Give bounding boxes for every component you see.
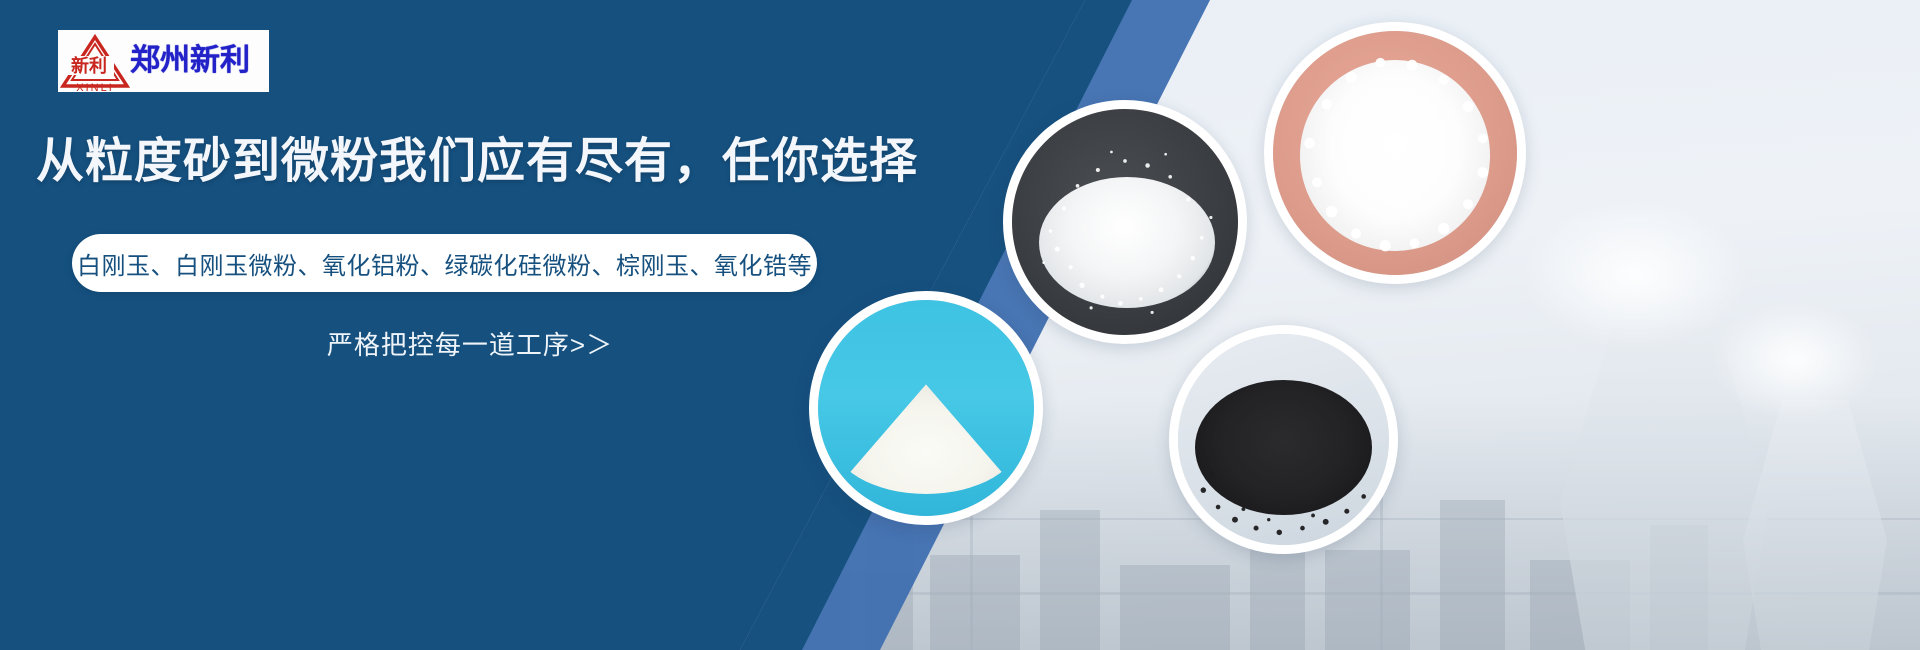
product-photo-alumina-powder-cyan[interactable] <box>809 291 1043 525</box>
product-photo-white-alumina-micropowder[interactable] <box>1264 22 1526 284</box>
promo-banner: 新利 XINLI 郑州新利 从粒度砂到微粉我们应有尽有，任你选择 白刚玉、白刚玉… <box>0 0 1920 650</box>
product-photo-white-fused-alumina-sand[interactable] <box>1003 100 1247 344</box>
svg-text:新利: 新利 <box>71 55 107 76</box>
product-list-pill[interactable]: 白刚玉、白刚玉微粉、氧化铝粉、绿碳化硅微粉、棕刚玉、氧化锆等 <box>72 234 817 292</box>
material-pile <box>1300 60 1490 250</box>
material-pile <box>1195 380 1372 515</box>
product-list-text: 白刚玉、白刚玉微粉、氧化铝粉、绿碳化硅微粉、棕刚玉、氧化锆等 <box>77 246 812 281</box>
triangle-mark-svg: 新利 XINLI <box>58 30 132 92</box>
steam-plume <box>1520 200 1750 350</box>
svg-text:XINLI: XINLI <box>76 82 114 92</box>
logo-company-name: 郑州新利 <box>130 46 250 76</box>
material-pile <box>1039 177 1215 308</box>
xinli-triangle-icon: 新利 XINLI <box>58 30 132 92</box>
company-logo[interactable]: 新利 XINLI 郑州新利 <box>58 30 269 92</box>
steam-plume <box>1710 300 1880 420</box>
product-photo-green-silicon-carbide-grit[interactable] <box>1169 325 1398 554</box>
cta-link[interactable]: 严格把控每一道工序>＞ <box>260 325 680 362</box>
headline: 从粒度砂到微粉我们应有尽有，任你选择 <box>36 136 918 188</box>
